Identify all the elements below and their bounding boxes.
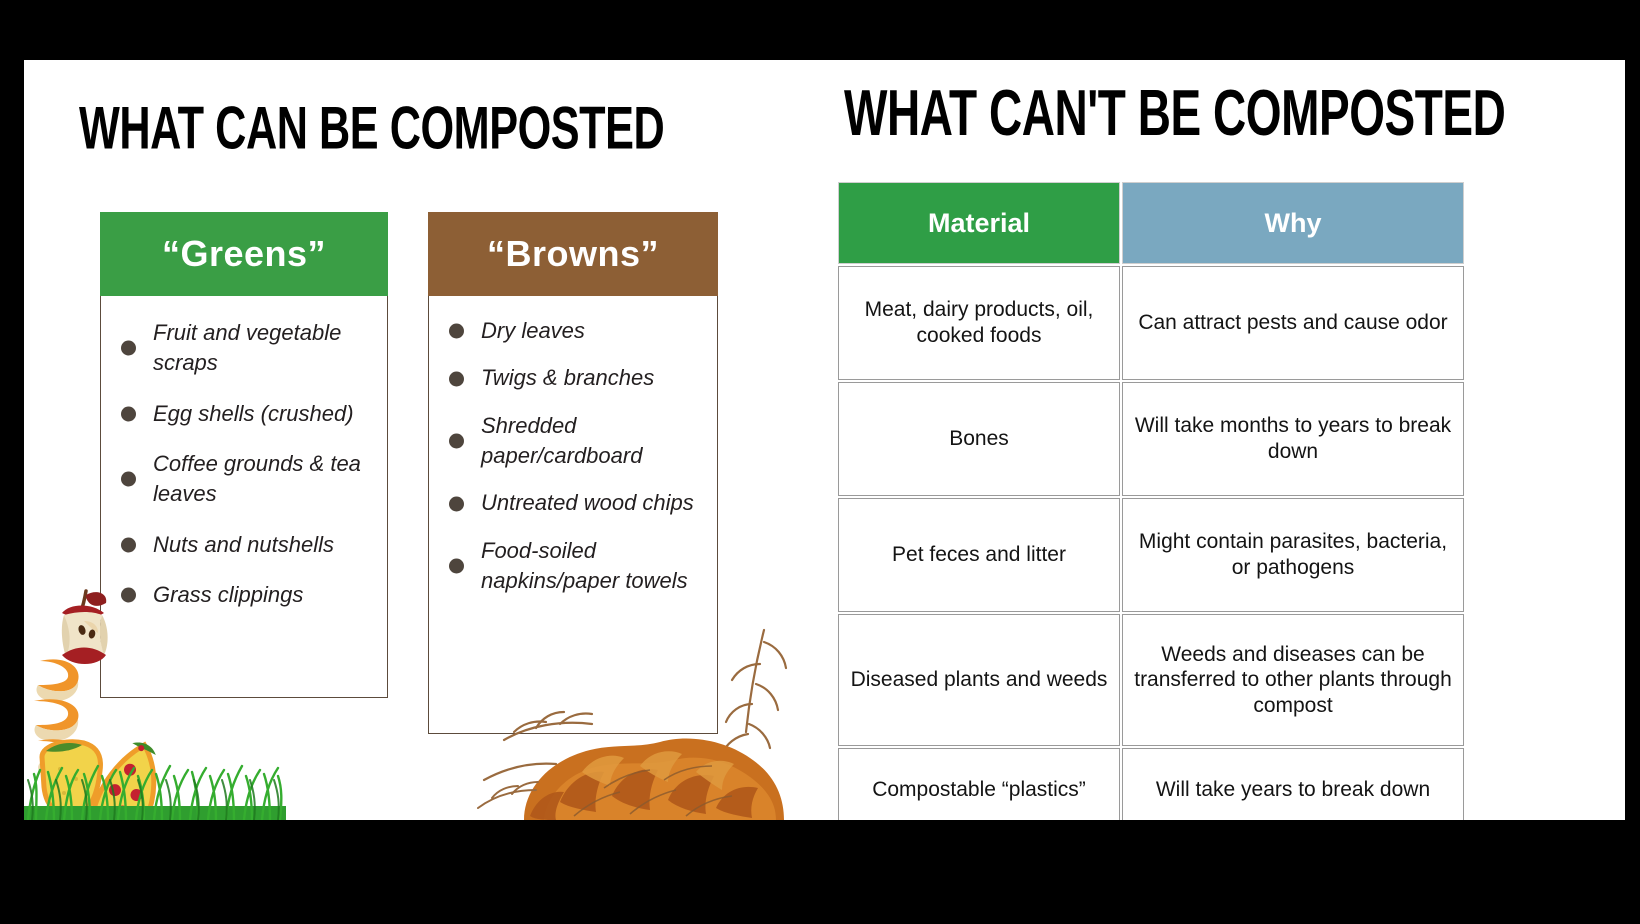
- cell-why: Will take years to break down: [1122, 748, 1464, 820]
- cannot-compost-table-wrapper: Material Why Meat, dairy products, oil, …: [836, 180, 1456, 820]
- table-header-row: Material Why: [838, 182, 1464, 264]
- greens-card-heading: “Greens”: [100, 212, 388, 296]
- table-row: Pet feces and litter Might contain paras…: [838, 498, 1464, 612]
- list-item: Untreated wood chips: [447, 488, 707, 518]
- list-item: Dry leaves: [447, 316, 707, 346]
- table-row: Compostable “plastics” Will take years t…: [838, 748, 1464, 820]
- list-item: Fruit and vegetable scraps: [119, 318, 377, 379]
- browns-card-body: Dry leaves Twigs & branches Shredded pap…: [428, 296, 718, 734]
- slide-canvas: WHAT CAN BE COMPOSTED “Greens” Fruit and…: [24, 60, 1625, 820]
- browns-card: “Browns” Dry leaves Twigs & branches Shr…: [428, 212, 718, 734]
- list-item: Egg shells (crushed): [119, 399, 377, 429]
- list-item: Food-soiled napkins/paper towels: [447, 536, 707, 597]
- greens-list: Fruit and vegetable scraps Egg shells (c…: [119, 318, 377, 611]
- list-item: Grass clippings: [119, 580, 377, 610]
- table-row: Meat, dairy products, oil, cooked foods …: [838, 266, 1464, 380]
- cell-material: Pet feces and litter: [838, 498, 1120, 612]
- browns-list: Dry leaves Twigs & branches Shredded pap…: [447, 316, 707, 597]
- cell-material: Bones: [838, 382, 1120, 496]
- cell-why: Might contain parasites, bacteria, or pa…: [1122, 498, 1464, 612]
- cell-material: Meat, dairy products, oil, cooked foods: [838, 266, 1120, 380]
- cannot-compost-table: Material Why Meat, dairy products, oil, …: [836, 180, 1466, 820]
- left-panel: WHAT CAN BE COMPOSTED “Greens” Fruit and…: [24, 60, 804, 820]
- column-header-why: Why: [1122, 182, 1464, 264]
- list-item: Coffee grounds & tea leaves: [119, 449, 377, 510]
- greens-card: “Greens” Fruit and vegetable scraps Egg …: [100, 212, 388, 698]
- right-panel-title: WHAT CAN'T BE COMPOSTED: [844, 75, 1505, 150]
- cell-why: Weeds and diseases can be transferred to…: [1122, 614, 1464, 746]
- grass-icon: [24, 750, 286, 820]
- list-item: Twigs & branches: [447, 363, 707, 393]
- cell-why: Will take months to years to break down: [1122, 382, 1464, 496]
- cell-why: Can attract pests and cause odor: [1122, 266, 1464, 380]
- table-row: Bones Will take months to years to break…: [838, 382, 1464, 496]
- cell-material: Diseased plants and weeds: [838, 614, 1120, 746]
- browns-card-heading: “Browns”: [428, 212, 718, 296]
- left-panel-title: WHAT CAN BE COMPOSTED: [79, 92, 664, 162]
- list-item: Nuts and nutshells: [119, 530, 377, 560]
- table-row: Diseased plants and weeds Weeds and dise…: [838, 614, 1464, 746]
- list-item: Shredded paper/cardboard: [447, 411, 707, 472]
- column-header-material: Material: [838, 182, 1120, 264]
- food-scraps-icon: [36, 735, 196, 820]
- cell-material: Compostable “plastics”: [838, 748, 1120, 820]
- greens-card-body: Fruit and vegetable scraps Egg shells (c…: [100, 296, 388, 698]
- slide-stage: WHAT CAN BE COMPOSTED “Greens” Fruit and…: [0, 0, 1640, 924]
